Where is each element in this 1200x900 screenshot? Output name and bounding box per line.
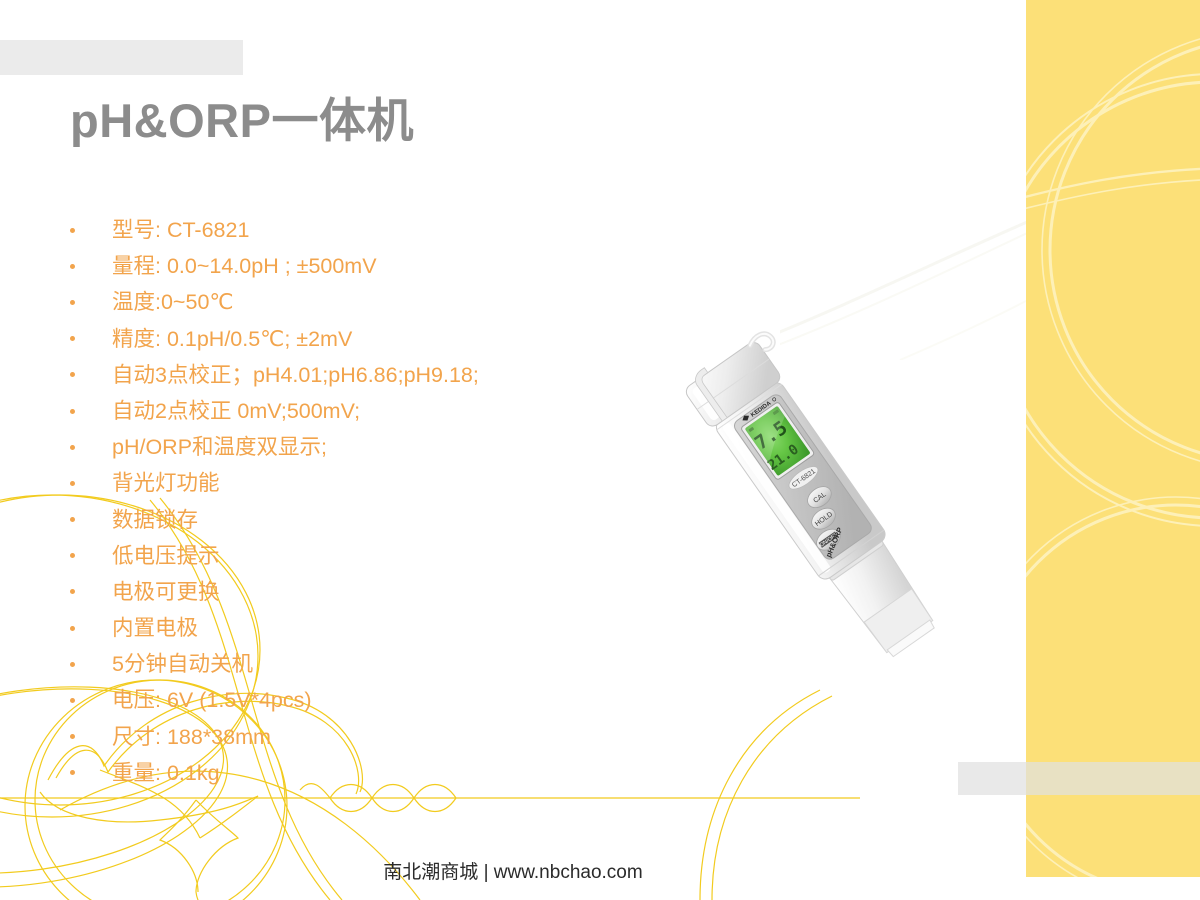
- list-item: 内置电极: [64, 610, 684, 646]
- spec-text: 数据锁存: [112, 502, 198, 538]
- specification-list: 型号: CT-6821 量程: 0.0~14.0pH ; ±500mV 温度:0…: [64, 212, 684, 791]
- spec-text: 精度: 0.1pH/0.5℃; ±2mV: [112, 321, 352, 357]
- bullet-dot-icon: [70, 481, 75, 486]
- bullet-dot-icon: [70, 336, 75, 341]
- spec-text: 重量: 0.1kg: [112, 755, 220, 791]
- grey-accent-bar-bottom: [958, 762, 1200, 795]
- bullet-dot-icon: [70, 698, 75, 703]
- product-image-ph-orp-meter: KEDIDA 7.5 21.0 CT-6821: [620, 330, 1010, 690]
- spec-text: 5分钟自动关机: [112, 646, 253, 682]
- list-item: 量程: 0.0~14.0pH ; ±500mV: [64, 248, 684, 284]
- yellow-decorative-panel: [1026, 0, 1200, 877]
- spec-text: 内置电极: [112, 610, 198, 646]
- bullet-dot-icon: [70, 300, 75, 305]
- list-item: pH/ORP和温度双显示;: [64, 429, 684, 465]
- list-item: 低电压提示: [64, 538, 684, 574]
- spec-text: 自动3点校正；pH4.01;pH6.86;pH9.18;: [112, 357, 479, 393]
- bullet-dot-icon: [70, 553, 75, 558]
- spec-text: 自动2点校正 0mV;500mV;: [112, 393, 360, 429]
- page-title: pH&ORP一体机: [70, 82, 414, 151]
- bullet-dot-icon: [70, 445, 75, 450]
- spec-text: pH/ORP和温度双显示;: [112, 429, 327, 465]
- bullet-dot-icon: [70, 264, 75, 269]
- spec-text: 低电压提示: [112, 538, 220, 574]
- bullet-dot-icon: [70, 770, 75, 775]
- bullet-dot-icon: [70, 734, 75, 739]
- bullet-dot-icon: [70, 228, 75, 233]
- list-item: 精度: 0.1pH/0.5℃; ±2mV: [64, 321, 684, 357]
- list-item: 自动2点校正 0mV;500mV;: [64, 393, 684, 429]
- spec-text: 尺寸: 188*38mm: [112, 719, 271, 755]
- list-item: 电极可更换: [64, 574, 684, 610]
- spec-text: 电压: 6V (1.5V*4pcs): [112, 682, 312, 718]
- list-item: 温度:0~50℃: [64, 284, 684, 320]
- bullet-dot-icon: [70, 409, 75, 414]
- list-item: 重量: 0.1kg: [64, 755, 684, 791]
- spec-text: 背光灯功能: [112, 465, 220, 501]
- spec-text: 温度:0~50℃: [112, 284, 234, 320]
- list-item: 自动3点校正；pH4.01;pH6.86;pH9.18;: [64, 357, 684, 393]
- list-item: 电压: 6V (1.5V*4pcs): [64, 682, 684, 718]
- bullet-dot-icon: [70, 589, 75, 594]
- list-item: 尺寸: 188*38mm: [64, 719, 684, 755]
- spec-text: 型号: CT-6821: [112, 212, 249, 248]
- spec-text: 电极可更换: [112, 574, 220, 610]
- grey-accent-bar-top: [0, 40, 243, 75]
- slide-canvas: pH&ORP一体机: [0, 0, 1200, 900]
- bullet-dot-icon: [70, 372, 75, 377]
- list-item: 5分钟自动关机: [64, 646, 684, 682]
- spec-text: 量程: 0.0~14.0pH ; ±500mV: [112, 248, 377, 284]
- bullet-dot-icon: [70, 626, 75, 631]
- background-arc-decoration-left: [780, 0, 1040, 360]
- bullet-dot-icon: [70, 662, 75, 667]
- list-item: 背光灯功能: [64, 465, 684, 501]
- footer-watermark: 南北潮商城 | www.nbchao.com: [0, 857, 1026, 884]
- list-item: 数据锁存: [64, 502, 684, 538]
- list-item: 型号: CT-6821: [64, 212, 684, 248]
- bullet-dot-icon: [70, 517, 75, 522]
